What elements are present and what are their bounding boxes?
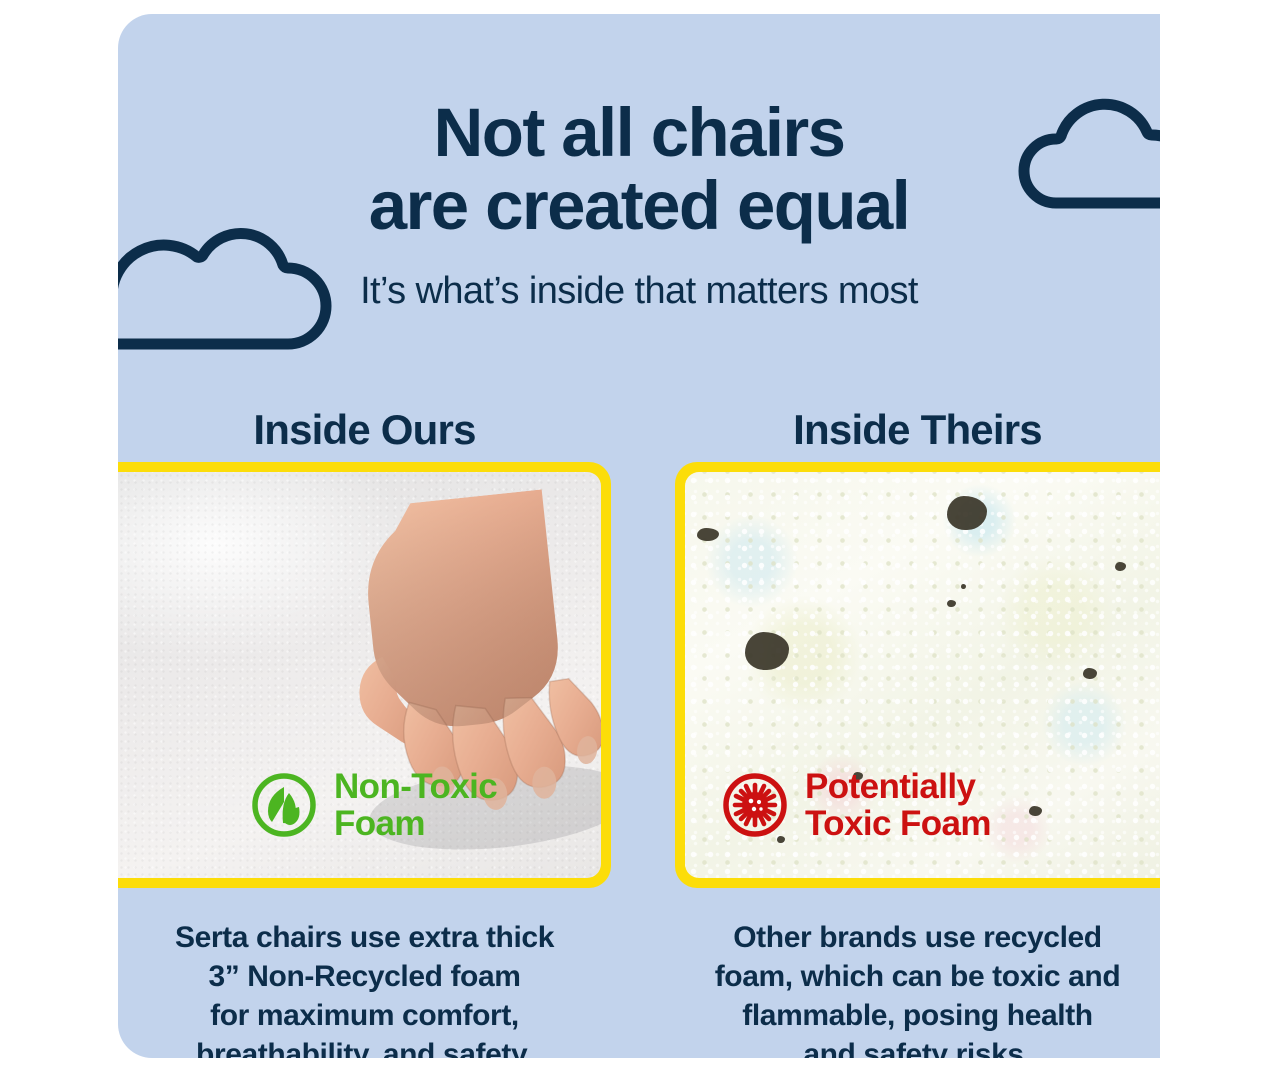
column-title-ours: Inside Ours (118, 402, 611, 462)
badge-label-non-toxic: Non-Toxic Foam (334, 768, 497, 842)
headline-line-2: are created equal (118, 169, 1160, 242)
subheadline: It’s what’s inside that matters most (118, 270, 1160, 313)
comparison-card: Not all chairs are created equal It’s wh… (118, 14, 1160, 1058)
caption-ours: Serta chairs use extra thick 3” Non-Recy… (118, 918, 611, 1058)
headline-line-1: Not all chairs (434, 94, 845, 171)
photo-frame-ours: Non-Toxic Foam (118, 462, 611, 888)
leaf-circle-icon (250, 771, 318, 839)
badge-label-potentially-toxic: Potentially Toxic Foam (805, 768, 991, 842)
column-ours: Inside Ours (118, 402, 611, 1058)
badge-potentially-toxic: Potentially Toxic Foam (721, 768, 991, 842)
photo-frame-theirs: Potentially Toxic Foam (675, 462, 1160, 888)
page-title: Not all chairs are created equal (118, 96, 1160, 242)
infographic-canvas: Not all chairs are created equal It’s wh… (0, 0, 1280, 1073)
comparison-columns: Inside Ours (118, 402, 1160, 1042)
photo-theirs: Potentially Toxic Foam (685, 472, 1160, 878)
column-theirs: Inside Theirs (675, 402, 1160, 1058)
photo-ours: Non-Toxic Foam (118, 472, 601, 878)
column-title-theirs: Inside Theirs (675, 402, 1160, 462)
germ-circle-icon (721, 771, 789, 839)
badge-non-toxic: Non-Toxic Foam (250, 768, 497, 842)
caption-theirs: Other brands use recycled foam, which ca… (675, 918, 1160, 1058)
